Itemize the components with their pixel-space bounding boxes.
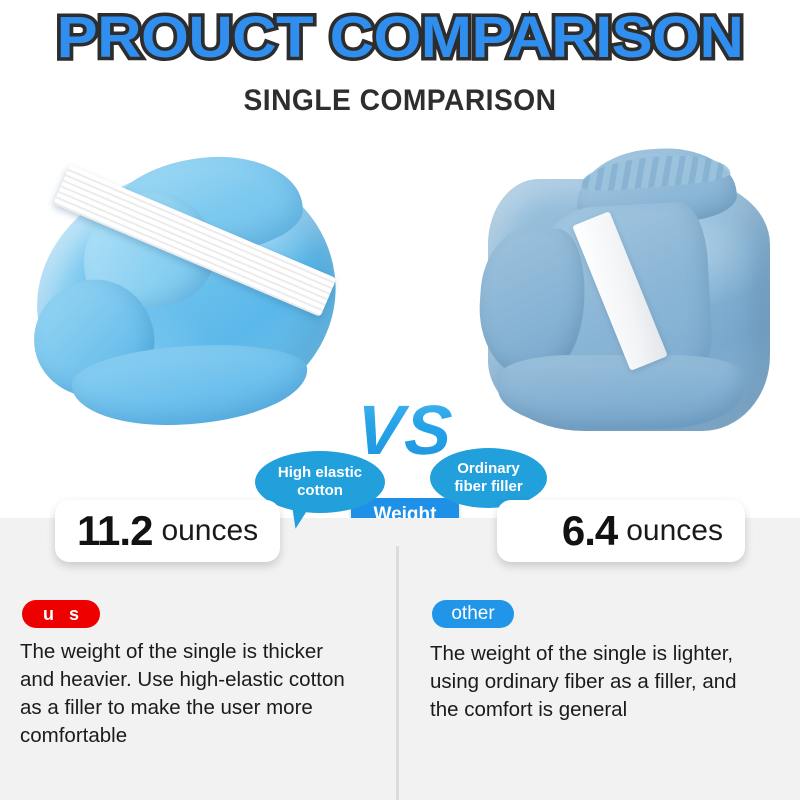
left-description-line: as a filler to make the user more (20, 694, 392, 722)
left-description-line: and heavier. Use high-elastic cotton (20, 666, 392, 694)
right-description-line: the comfort is general (430, 696, 780, 724)
left-weight-card: 11.2 ounces (55, 500, 280, 562)
page-subtitle: SINGLE COMPARISON (24, 84, 776, 118)
right-description-line: using ordinary fiber as a filler, and (430, 668, 780, 696)
left-description: The weight of the single is thicker and … (20, 638, 392, 750)
left-brand-pill: u s (22, 600, 100, 628)
right-weight-card: 6.4 ounces (497, 500, 745, 562)
right-pillow-bottom-lobe (498, 355, 744, 429)
right-description: The weight of the single is lighter, usi… (430, 640, 780, 724)
product-image-area: VS Weight (0, 135, 800, 518)
product-comparison-infographic: PROUCT COMPARISON SINGLE COMPARISON VS W… (0, 0, 800, 800)
left-filler-bubble-label: High elastic cotton (265, 464, 375, 500)
right-description-line: The weight of the single is lighter, (430, 640, 780, 668)
page-title: PROUCT COMPARISON (0, 4, 800, 71)
right-weight-value: 6.4 (562, 507, 617, 555)
right-brand-pill: other (432, 600, 514, 628)
left-description-line: comfortable (20, 722, 392, 750)
right-filler-bubble-label: Ordinary fiber filler (440, 460, 537, 496)
left-weight-unit: ounces (161, 514, 258, 548)
header: PROUCT COMPARISON SINGLE COMPARISON (0, 0, 800, 135)
right-filler-bubble: Ordinary fiber filler (430, 448, 547, 508)
right-product-image (472, 143, 782, 443)
left-weight-value: 11.2 (77, 507, 152, 555)
left-description-line: The weight of the single is thicker (20, 638, 392, 666)
right-weight-unit: ounces (626, 514, 723, 548)
column-divider (396, 546, 399, 800)
left-product-image (28, 150, 348, 430)
